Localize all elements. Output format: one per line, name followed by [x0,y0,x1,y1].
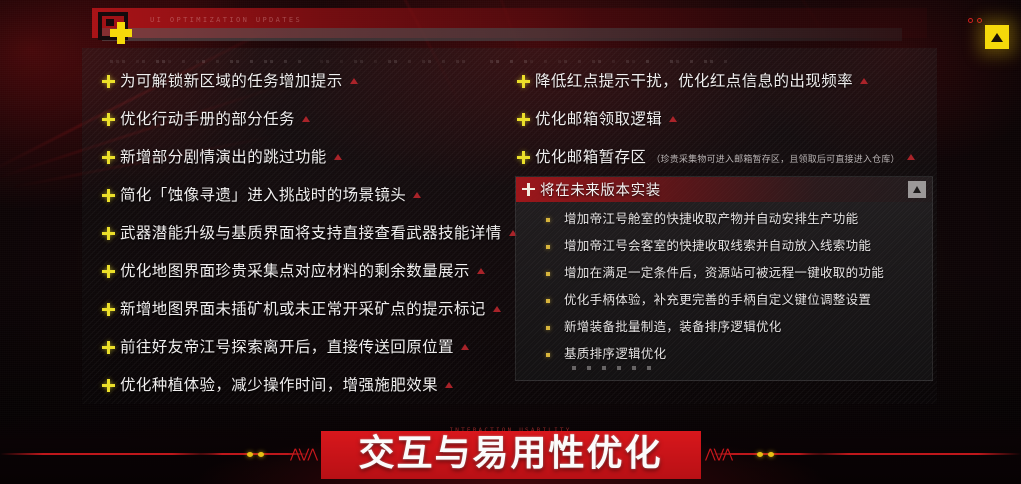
change-item-row[interactable]: 新增部分剧情演出的跳过功能 [100,142,520,180]
zigzag-icon: ⋀⋁⋀ [290,447,316,462]
plus-icon [100,339,120,357]
decor-dot [408,60,411,63]
future-item-row[interactable]: 优化手柄体验，补充更完善的手柄自定义键位调整设置 [546,291,932,318]
decor-dot [250,60,253,63]
decor-dot [354,60,357,63]
decor-dot [456,60,459,63]
future-item-text: 基质排序逻辑优化 [564,345,666,363]
triangle-up-icon [991,33,1003,42]
change-item-row[interactable]: 优化邮箱暂存区（珍贵采集物可进入邮箱暂存区，且领取后可直接进入仓库） [515,142,940,180]
change-item-text: 优化行动手册的部分任务 [120,109,295,129]
future-item-text: 增加帝江号舱室的快捷收取产物并自动安排生产功能 [564,210,858,228]
triangle-marker-icon [461,344,469,350]
right-items-column: 降低红点提示干扰，优化红点信息的出现频率优化邮箱领取逻辑优化邮箱暂存区（珍贵采集… [515,66,940,180]
change-item-row[interactable]: 优化种植体验，减少操作时间，增强施肥效果 [100,370,520,408]
bullet-dot-icon [546,326,550,330]
banner-line [0,453,215,455]
decor-dot [264,60,267,63]
plus-icon [100,263,120,281]
decor-dot [710,60,713,63]
decor-dot [156,60,159,63]
banner-dot [757,452,763,457]
change-item-text: 优化地图界面珍贵采集点对应材料的剩余数量展示 [120,261,470,281]
decor-dot [340,60,343,63]
decor-dot [394,60,397,63]
decor-dot [626,60,629,63]
change-item-text: 优化邮箱领取逻辑 [535,109,662,129]
decor-dot [462,60,465,63]
plus-icon [100,149,120,167]
triangle-marker-icon [334,154,342,160]
decor-dot [320,60,323,63]
triangle-marker-icon [477,268,485,274]
decor-dot [326,60,329,63]
plus-icon [100,73,120,91]
decor-dot [122,60,125,63]
decor-dot [428,60,431,63]
change-item-text: 前往好友帝江号探索离开后，直接传送回原位置 [120,337,454,357]
change-item-row[interactable]: 新增地图界面未插矿机或未正常开采矿点的提示标记 [100,294,520,332]
plus-icon [100,301,120,319]
future-item-row[interactable]: 新增装备批量制造，装备排序逻辑优化 [546,318,932,345]
bullet-dot-icon [546,353,550,357]
banner-dots-right [757,452,774,457]
banner-dot [247,452,253,457]
decor-dot [690,60,693,63]
decor-dot [646,60,649,63]
pager-dot[interactable] [617,366,621,370]
bullet-dot-icon [546,218,550,222]
change-item-text: 新增地图界面未插矿机或未正常开采矿点的提示标记 [120,299,486,319]
decor-dot [544,60,547,63]
collapse-all-button[interactable] [985,25,1009,49]
header-gray-strip [102,28,902,41]
future-item-row[interactable]: 增加帝江号会客室的快捷收取线索并自动放入线索功能 [546,237,932,264]
decor-dot [196,60,199,63]
triangle-up-icon [913,186,921,193]
decor-dot [216,60,219,63]
decor-dot [284,60,287,63]
plus-icon [515,149,535,167]
change-item-text: 新增部分剧情演出的跳过功能 [120,147,327,167]
decor-dot [162,60,165,63]
future-version-panel: 将在未来版本实装 增加帝江号舱室的快捷收取产物并自动安排生产功能增加帝江号会客室… [515,176,933,381]
future-item-text: 增加在满足一定条件后，资源站可被远程一键收取的功能 [564,264,884,282]
change-item-row[interactable]: 优化行动手册的部分任务 [100,104,520,142]
future-item-text: 新增装备批量制造，装备排序逻辑优化 [564,318,782,336]
decor-dot [116,60,119,63]
header-status-dots [968,18,982,23]
change-item-text: 简化「蚀像寻遗」进入挑战时的场景镜头 [120,185,406,205]
banner-title-plate: 交互与易用性优化 [320,431,700,479]
plus-icon [520,181,540,199]
bullet-dot-icon [546,245,550,249]
change-item-row[interactable]: 优化邮箱领取逻辑 [515,104,940,142]
pager-dot[interactable] [632,366,636,370]
change-item-row[interactable]: 前往好友帝江号探索离开后，直接传送回原位置 [100,332,520,370]
triangle-marker-icon [445,382,453,388]
future-items-list: 增加帝江号舱室的快捷收取产物并自动安排生产功能增加帝江号会客室的快捷收取线索并自… [516,202,932,372]
decor-dot [270,60,273,63]
decor-dot [422,60,425,63]
square-plus-icon [96,10,138,44]
change-item-text: 优化邮箱暂存区 [535,147,646,167]
decor-dot-row [110,58,750,66]
plus-icon [100,187,120,205]
decor-dot [564,60,567,63]
decor-dot [592,60,595,63]
change-item-text: 降低红点提示干扰，优化红点信息的出现频率 [535,71,853,91]
change-item-row[interactable]: 为可解锁新区域的任务增加提示 [100,66,520,104]
decor-dot [230,60,233,63]
plus-icon [515,111,535,129]
bullet-dot-icon [546,272,550,276]
plus-icon [100,377,120,395]
triangle-marker-icon [413,192,421,198]
triangle-marker-icon [907,154,915,160]
banner-line [806,453,1021,455]
decor-dot [142,60,145,63]
status-dot [977,18,982,23]
change-item-row[interactable]: 简化「蚀像寻遗」进入挑战时的场景镜头 [100,180,520,218]
status-dot [968,18,973,23]
bullet-dot-icon [546,299,550,303]
decor-dot [724,60,727,63]
section-header: UI OPTIMIZATION UPDATES [92,8,927,42]
decor-dot [558,60,561,63]
banner-dot [768,452,774,457]
triangle-marker-icon [350,78,358,84]
decor-dot [510,60,513,63]
decor-dot [360,60,363,63]
change-item-text: 武器潜能升级与基质界面将支持直接查看武器技能详情 [120,223,502,243]
triangle-marker-icon [302,116,310,122]
plus-icon [515,73,535,91]
pager-dot[interactable] [602,366,606,370]
decor-dot [388,60,391,63]
future-item-row[interactable]: 增加帝江号舱室的快捷收取产物并自动安排生产功能 [546,210,932,237]
decor-dot [612,60,615,63]
triangle-marker-icon [669,116,677,122]
decor-dot [442,60,445,63]
decor-dot [490,60,493,63]
future-item-text: 增加帝江号会客室的快捷收取线索并自动放入线索功能 [564,237,871,255]
banner-dots-left [247,452,264,457]
decor-dot [530,60,533,63]
change-item-note: （珍贵采集物可进入邮箱暂存区，且领取后可直接进入仓库） [651,152,899,165]
decor-dot [202,60,205,63]
banner-dot [258,452,264,457]
decor-dot [676,60,679,63]
bottom-banner: ⋀⋁⋀ ⋀⋁⋀ INTERACTION USABILITY 交互与易用性优化 [0,412,1021,484]
future-panel-title: 将在未来版本实装 [540,179,661,200]
header-label: UI OPTIMIZATION UPDATES [150,16,302,24]
future-item-text: 优化手柄体验，补充更完善的手柄自定义键位调整设置 [564,291,871,309]
zigzag-icon: ⋀⋁⋀ [705,447,731,462]
triangle-marker-icon [860,78,868,84]
future-item-row[interactable]: 增加在满足一定条件后，资源站可被远程一键收取的功能 [546,264,932,291]
left-items-column: 为可解锁新区域的任务增加提示优化行动手册的部分任务新增部分剧情演出的跳过功能简化… [100,66,520,408]
banner-title: 交互与易用性优化 [358,432,662,476]
change-item-text: 为可解锁新区域的任务增加提示 [120,71,343,91]
decor-dot [136,60,139,63]
future-collapse-button[interactable] [908,181,926,198]
decor-dot [598,60,601,63]
decor-dot [496,60,499,63]
change-item-text: 优化种植体验，减少操作时间，增强施肥效果 [120,375,438,395]
change-item-row[interactable]: 降低红点提示干扰，优化红点信息的出现频率 [515,66,940,104]
change-item-row[interactable]: 优化地图界面珍贵采集点对应材料的剩余数量展示 [100,256,520,294]
triangle-marker-icon [493,306,501,312]
pager-dot[interactable] [647,366,651,370]
decor-dot [374,60,377,63]
decor-dot [632,60,635,63]
future-pager-dots[interactable] [572,366,651,370]
decor-dot [110,60,113,63]
decor-dot [182,60,185,63]
decor-dot [704,60,707,63]
decor-dot [168,60,171,63]
decor-dot [670,60,673,63]
pager-dot[interactable] [587,366,591,370]
decor-dot [236,60,239,63]
decor-dot [524,60,527,63]
plus-icon [100,111,120,129]
plus-icon [100,225,120,243]
change-item-row[interactable]: 武器潜能升级与基质界面将支持直接查看武器技能详情 [100,218,520,256]
pager-dot[interactable] [572,366,576,370]
decor-dot [578,60,581,63]
decor-dot [298,60,301,63]
future-panel-header[interactable]: 将在未来版本实装 [516,177,932,202]
